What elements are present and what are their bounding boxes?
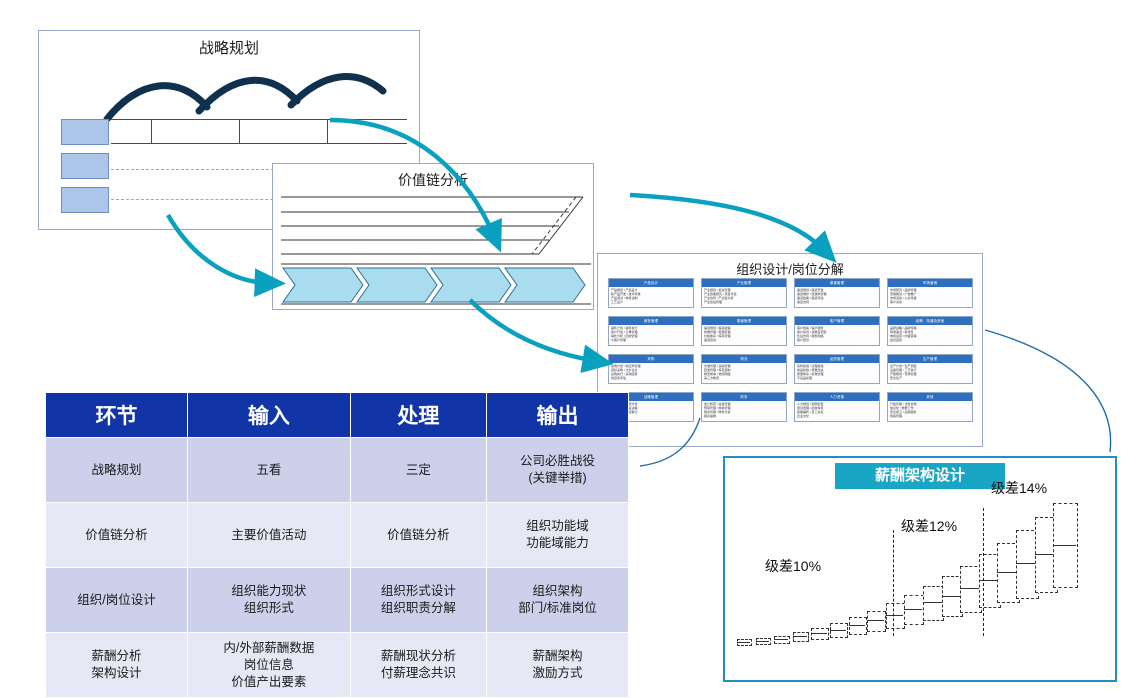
process-table: 环节输入处理输出 战略规划五看三定公司必胜战役(关键举措)价值链分析主要价值活动…: [45, 392, 629, 698]
value-chain-shape: [273, 164, 591, 307]
org-card: 人力资源人力规划 / 招聘配置培训发展 / 绩效考核薪酬福利 / 员工关系企业文…: [794, 392, 880, 422]
salary-label-1: 级差10%: [765, 556, 821, 576]
panel-org-design-title: 组织设计/岗位分解: [598, 259, 982, 278]
org-card-body: 生产计划 / 生产调度设备管理 / 工艺执行产能规划 / 现场管理安全生产: [888, 363, 972, 381]
org-card-body: 行政管理 / 法务合规信息化 / 党群工作安全保卫 / 后勤服务档案管理: [888, 401, 972, 419]
org-card: 生产管理生产计划 / 生产调度设备管理 / 工艺执行产能规划 / 现场管理安全生…: [887, 354, 973, 384]
salary-band-midline: [756, 641, 770, 642]
table-cell: 组织形式设计组织职责分解: [350, 568, 486, 633]
org-card: 财务会计核算 / 资金管理预算管理 / 成本管理税务管理 / 财务分析报表编制: [701, 392, 787, 422]
table-header-cell: 输出: [486, 393, 628, 438]
salary-band-midline: [811, 633, 826, 634]
org-card-title: 品质管理: [795, 355, 879, 363]
salary-band-midline: [923, 602, 942, 603]
table-row: 战略规划五看三定公司必胜战役(关键举措): [46, 438, 629, 503]
org-card: 渠道管理渠道规划 / 渠道开发渠道维护 / 经销商管理渠道政策 / 渠道评估渠道…: [794, 278, 880, 308]
org-card: 客户管理客户档案 / 客户服务客户投诉 / 满意度调查售后支持 / 服务网络客户…: [794, 316, 880, 346]
table-cell: 薪酬现状分析付薪理念共识: [350, 633, 486, 698]
table-cell: 主要价值活动: [187, 503, 350, 568]
org-card-title: 品牌、特通及其他: [888, 317, 972, 325]
salary-band: [811, 628, 828, 640]
strategy-box-1: [61, 119, 109, 145]
table-row: 组织/岗位设计组织能力现状组织形式组织形式设计组织职责分解组织架构部门/标准岗位: [46, 568, 629, 633]
strategy-tick-2: [239, 119, 240, 143]
table-row: 薪酬分析架构设计内/外部薪酬数据岗位信息价值产出要素薪酬现状分析付薪理念共识薪酬…: [46, 633, 629, 698]
org-card-body: 产业规划 / 投资管理产业政策研究 / 项目评估产业协同 / 产业链分析产业投后…: [702, 287, 786, 305]
strategy-tick-1: [151, 119, 152, 143]
salary-band-midline: [997, 572, 1018, 573]
salary-band: [904, 595, 924, 625]
org-card-body: 市场研究 / 品牌管理营销策划 / 广告推广市场活动 / 公关传播客户关系: [888, 287, 972, 305]
org-card-title: 渠道管理: [795, 279, 879, 287]
org-card-title: 渠道管理: [702, 317, 786, 325]
salary-band-midline: [867, 620, 884, 621]
org-card-body: 采购计划 / 供应商管理招标采购 / 比价议价采购执行 / 采购结算供应商评估: [609, 363, 693, 381]
salary-band: [737, 639, 752, 646]
salary-band-midline: [942, 596, 961, 597]
table-cell: 薪酬分析架构设计: [46, 633, 188, 698]
strategy-box-2: [61, 153, 109, 179]
panel-salary: 薪酬架构设计 级差10% 级差12% 级差14%: [723, 456, 1117, 682]
org-card-title: 客户管理: [795, 317, 879, 325]
org-card-body: 渠道规划 / 渠道政策终端管理 / 促销管理价格体系 / 库存管理渠道培训: [702, 325, 786, 343]
salary-band-midline: [886, 615, 903, 616]
org-card: 产业管理产业规划 / 投资管理产业政策研究 / 项目评估产业协同 / 产业链分析…: [701, 278, 787, 308]
table-header-row: 环节输入处理输出: [46, 393, 629, 438]
table-header-cell: 处理: [350, 393, 486, 438]
panel-org-design: 组织设计/岗位分解 产品设计产品规划 / 产品设计新产品开发 / 技术标准产品测…: [597, 253, 983, 447]
org-card: 销售管理销售计划 / 销售执行客户开发 / 订单管理销售分析 / 回款管理大客户…: [608, 316, 694, 346]
org-card-title: 产品设计: [609, 279, 693, 287]
salary-band: [886, 603, 905, 629]
table-row: 价值链分析主要价值活动价值链分析组织功能域功能域能力: [46, 503, 629, 568]
salary-band-midline: [774, 639, 788, 640]
salary-band: [1053, 503, 1077, 588]
salary-band-midline: [1053, 545, 1075, 546]
org-card-body: 渠道规划 / 渠道开发渠道维护 / 经销商管理渠道政策 / 渠道评估渠道支持: [795, 287, 879, 305]
table-cell: 组织架构部门/标准岗位: [486, 568, 628, 633]
salary-label-3: 级差14%: [991, 478, 1047, 498]
org-card-body: 来料检验 / 过程检验成品检验 / 质量改进质量体系 / 标准管理不良品处理: [795, 363, 879, 381]
org-card: 品牌、特通及其他品牌战略 / 品牌传播特通渠道 / 新零售电商运营 / 内容营销…: [887, 316, 973, 346]
strategy-tick-3: [327, 119, 328, 143]
org-card: 采购采购计划 / 供应商管理招标采购 / 比价议价采购执行 / 采购结算供应商评…: [608, 354, 694, 384]
table-cell: 价值链分析: [350, 503, 486, 568]
salary-divider-2: [983, 508, 984, 636]
org-card-title: 采购: [609, 355, 693, 363]
table-cell: 三定: [350, 438, 486, 503]
org-card: 其他行政管理 / 法务合规信息化 / 党群工作安全保卫 / 后勤服务档案管理: [887, 392, 973, 422]
org-card-title: 人力资源: [795, 393, 879, 401]
org-card-title: 销售管理: [609, 317, 693, 325]
salary-band: [830, 623, 848, 638]
org-card: 物流仓储管理 / 运输管理配送管理 / 库存控制物流成本 / 物流网络第三方物流: [701, 354, 787, 384]
strategy-line-2: [111, 143, 407, 144]
panel-salary-title: 薪酬架构设计: [835, 463, 1005, 489]
salary-band-midline: [793, 636, 808, 637]
salary-label-2: 级差12%: [901, 516, 957, 536]
salary-band-midline: [830, 630, 846, 631]
salary-band: [756, 638, 772, 645]
org-card-body: 仓储管理 / 运输管理配送管理 / 库存控制物流成本 / 物流网络第三方物流: [702, 363, 786, 381]
org-card: 市场营销市场研究 / 品牌管理营销策划 / 广告推广市场活动 / 公关传播客户关…: [887, 278, 973, 308]
table-cell: 内/外部薪酬数据岗位信息价值产出要素: [187, 633, 350, 698]
salary-band-midline: [979, 580, 999, 581]
salary-band-midline: [849, 625, 865, 626]
org-card-body: 销售计划 / 销售执行客户开发 / 订单管理销售分析 / 回款管理大客户管理: [609, 325, 693, 343]
panel-value-chain: 价值链分析: [272, 163, 594, 310]
salary-divider-1: [893, 530, 894, 636]
strategy-box-3: [61, 187, 109, 213]
org-card-body: 人力规划 / 招聘配置培训发展 / 绩效考核薪酬福利 / 员工关系企业文化: [795, 401, 879, 419]
table-cell: 战略规划: [46, 438, 188, 503]
table-cell: 组织/岗位设计: [46, 568, 188, 633]
table-cell: 组织功能域功能域能力: [486, 503, 628, 568]
table-body: 战略规划五看三定公司必胜战役(关键举措)价值链分析主要价值活动价值链分析组织功能…: [46, 438, 629, 698]
table-cell: 公司必胜战役(关键举措): [486, 438, 628, 503]
table-cell: 价值链分析: [46, 503, 188, 568]
org-card-title: 产业管理: [702, 279, 786, 287]
salary-band-midline: [960, 588, 980, 589]
table-cell: 五看: [187, 438, 350, 503]
table-cell: 薪酬架构激励方式: [486, 633, 628, 698]
table-header-cell: 环节: [46, 393, 188, 438]
org-card-title: 市场营销: [888, 279, 972, 287]
org-card-body: 会计核算 / 资金管理预算管理 / 成本管理税务管理 / 财务分析报表编制: [702, 401, 786, 419]
salary-band: [849, 617, 867, 635]
org-card: 品质管理来料检验 / 过程检验成品检验 / 质量改进质量体系 / 标准管理不良品…: [794, 354, 880, 384]
org-card-title: 其他: [888, 393, 972, 401]
salary-band-midline: [904, 609, 922, 610]
table-header-cell: 输入: [187, 393, 350, 438]
org-card-title: 物流: [702, 355, 786, 363]
strategy-line-1: [111, 119, 407, 120]
org-card-title: 生产管理: [888, 355, 972, 363]
org-card: 产品设计产品规划 / 产品设计新产品开发 / 技术标准产品测试 / 样机试制工艺…: [608, 278, 694, 308]
org-card-body: 产品规划 / 产品设计新产品开发 / 技术标准产品测试 / 样机试制工艺设计: [609, 287, 693, 305]
org-card: 渠道管理渠道规划 / 渠道政策终端管理 / 促销管理价格体系 / 库存管理渠道培…: [701, 316, 787, 346]
salary-band-midline: [737, 642, 750, 643]
org-card-title: 财务: [702, 393, 786, 401]
table-cell: 组织能力现状组织形式: [187, 568, 350, 633]
org-card-body: 客户档案 / 客户服务客户投诉 / 满意度调查售后支持 / 服务网络客户回访: [795, 325, 879, 343]
org-card-body: 品牌战略 / 品牌传播特通渠道 / 新零售电商运营 / 内容营销会员运营: [888, 325, 972, 343]
